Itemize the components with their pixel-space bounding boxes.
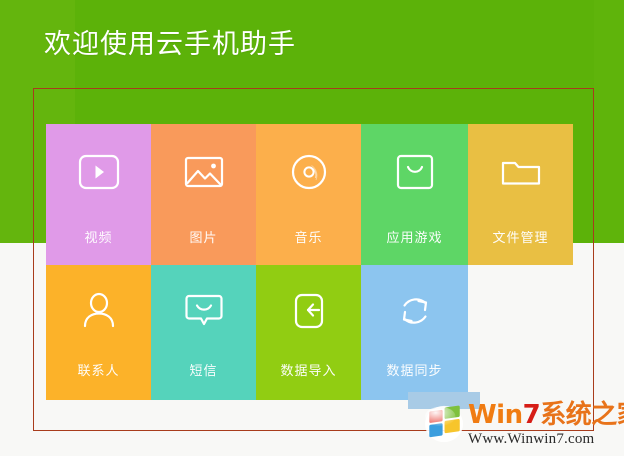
contact-person-icon [46, 285, 151, 337]
tile-label: 文件管理 [468, 231, 573, 247]
windows-flag-logo [424, 404, 466, 444]
tile-row: 联系人 短信 [46, 265, 573, 400]
tile-label: 短信 [151, 364, 256, 380]
header-background-right-strip [594, 0, 624, 243]
watermark: Win7系统之家 Www.Winwin7.com [424, 402, 620, 452]
app-store-bag-icon [361, 146, 468, 198]
data-sync-icon [361, 285, 468, 337]
watermark-url: Www.Winwin7.com [468, 432, 624, 447]
tile-grid: 视频 图片 [46, 124, 573, 400]
music-disc-icon [256, 146, 361, 198]
tile-picture[interactable]: 图片 [151, 124, 256, 265]
tile-label: 应用游戏 [361, 231, 468, 247]
tile-label: 数据导入 [256, 364, 361, 380]
tile-data-import[interactable]: 数据导入 [256, 265, 361, 400]
tile-label: 视频 [46, 231, 151, 247]
tile-music[interactable]: 音乐 [256, 124, 361, 265]
watermark-brand: Win7系统之家 [468, 402, 624, 428]
watermark-text: Win7系统之家 Www.Winwin7.com [468, 402, 624, 447]
watermark-brand-win: Win [468, 400, 523, 430]
data-import-icon [256, 285, 361, 337]
tile-file-manager[interactable]: 文件管理 [468, 124, 573, 265]
tile-label: 联系人 [46, 364, 151, 380]
folder-icon [468, 146, 573, 198]
tile-label: 数据同步 [361, 364, 468, 380]
picture-icon [151, 146, 256, 198]
tile-contacts[interactable]: 联系人 [46, 265, 151, 400]
tile-label: 图片 [151, 231, 256, 247]
watermark-brand-cn: 系统之家 [540, 400, 624, 430]
tile-apps-games[interactable]: 应用游戏 [361, 124, 468, 265]
tile-label: 音乐 [256, 231, 361, 247]
tile-data-sync[interactable]: 数据同步 [361, 265, 468, 400]
watermark-brand-seven: 7 [523, 400, 541, 430]
page-title: 欢迎使用云手机助手 [44, 28, 296, 62]
video-play-icon [46, 146, 151, 198]
app-window: 欢迎使用云手机助手 视频 [0, 0, 624, 456]
tile-sms[interactable]: 短信 [151, 265, 256, 400]
sms-bubble-icon [151, 285, 256, 337]
tile-row: 视频 图片 [46, 124, 573, 265]
tile-video[interactable]: 视频 [46, 124, 151, 265]
tile-empty-slot [468, 265, 573, 400]
